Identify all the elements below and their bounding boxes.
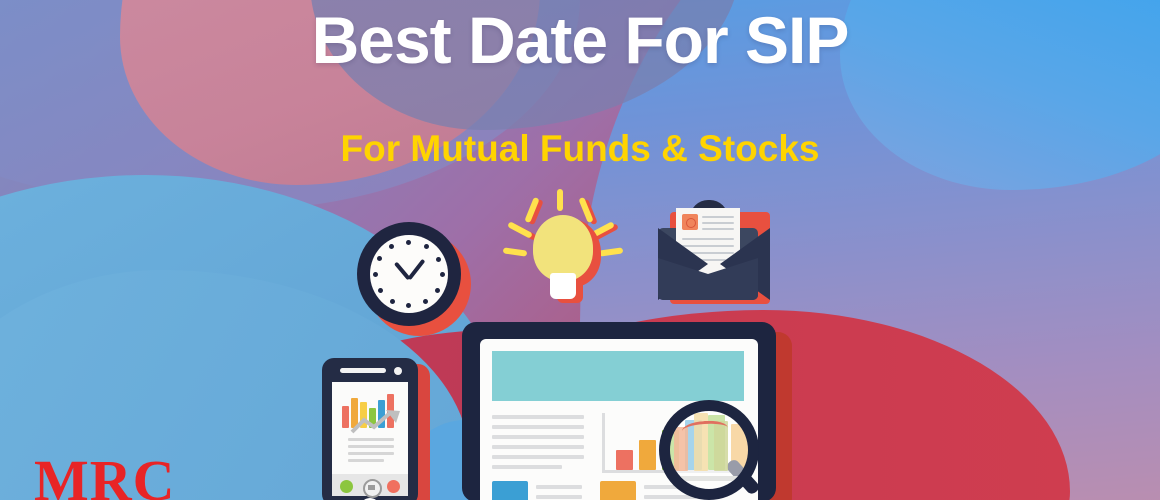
sip-promo-banner: Best Date For SIP For Mutual Funds & Sto… — [0, 0, 1160, 500]
lightbulb-base — [550, 273, 576, 299]
smartphone-device — [322, 358, 426, 500]
lightbulb-icon — [505, 193, 625, 313]
phone-speaker — [340, 368, 386, 373]
lightbulb-glass — [533, 215, 593, 281]
phone-red-button[interactable] — [387, 480, 400, 493]
phone-green-button[interactable] — [340, 480, 353, 493]
growth-arrow-icon — [350, 410, 404, 436]
illustration-group — [0, 0, 1160, 500]
phone-browser-icon[interactable] — [363, 479, 382, 498]
watermark-logo: MRC — [34, 447, 176, 500]
phone-screen — [332, 382, 408, 474]
open-envelope-icon — [658, 200, 770, 310]
phone-camera — [394, 367, 402, 375]
magnifying-glass-icon — [655, 396, 763, 500]
dashboard-hero-banner — [492, 351, 744, 401]
clock-icon — [357, 222, 469, 334]
magnifier-lens — [659, 400, 759, 500]
